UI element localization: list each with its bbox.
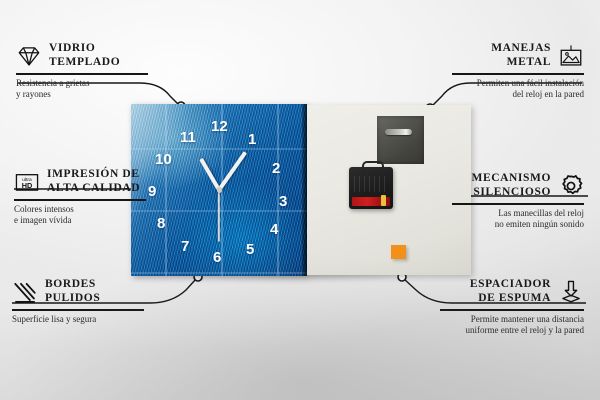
clock-front-face: 12 1 2 3 4 5 6 7 8 9 10 11: [131, 104, 307, 276]
feature-rule: [452, 203, 584, 205]
feature-espaciador-espuma: ESPACIADOR DE ESPUMA Permite mantener un…: [440, 278, 584, 337]
clock-back-panel: [307, 105, 471, 275]
clock-number: 12: [211, 119, 228, 134]
feature-header: BORDES PULIDOS: [12, 278, 144, 305]
clock-number: 11: [180, 130, 196, 145]
feature-title: MANEJAS METAL: [491, 42, 551, 69]
diagonal-lines-icon: [12, 279, 38, 305]
clock-number: 7: [181, 239, 189, 254]
feature-manejas-metal: MANEJAS METAL Permiten una fácil instala…: [452, 42, 584, 101]
feature-title: MECANISMO SILENCIOSO: [471, 172, 551, 199]
clock-center-pin: [217, 188, 222, 193]
clock-number: 1: [248, 132, 256, 147]
feature-subtitle-line1: Resistencia a grietas: [16, 78, 148, 90]
gear-icon: [558, 173, 584, 199]
picture-frame-icon: [558, 43, 584, 69]
feature-subtitle-line2: no emiten ningún sonido: [452, 219, 584, 231]
feature-subtitle-line2: del reloj en la pared: [452, 89, 584, 101]
feature-subtitle-line1: Superficie lisa y segura: [12, 314, 144, 326]
mechanism-detail: [354, 176, 388, 192]
metal-hanger: [377, 116, 424, 164]
mechanism-loop: [362, 161, 384, 172]
feature-rule: [14, 199, 146, 201]
feature-header: MANEJAS METAL: [452, 42, 584, 69]
clock-number: 3: [279, 194, 287, 209]
infographic-canvas: 12 1 2 3 4 5 6 7 8 9 10 11: [0, 0, 600, 400]
clock-number: 4: [270, 222, 278, 237]
clock-second-hand: [218, 190, 220, 242]
down-arrow-pad-icon: [558, 279, 584, 305]
feature-mecanismo-silencioso: MECANISMO SILENCIOSO Las manecillas del …: [452, 172, 584, 231]
clock-mechanism: [349, 167, 393, 209]
feature-bordes-pulidos: BORDES PULIDOS Superficie lisa y segura: [12, 278, 144, 325]
feature-rule: [12, 309, 144, 311]
product-image: 12 1 2 3 4 5 6 7 8 9 10 11: [131, 104, 471, 276]
feature-rule: [16, 73, 148, 75]
feature-subtitle-line1: Permite mantener una distancia: [440, 314, 584, 326]
clock-number: 5: [246, 242, 254, 257]
feature-title: BORDES PULIDOS: [45, 278, 100, 305]
feature-subtitle-line1: Colores intensos: [14, 204, 146, 216]
feature-title: ESPACIADOR DE ESPUMA: [470, 278, 551, 305]
clock-number: 9: [148, 184, 156, 199]
clock-number: 2: [272, 161, 280, 176]
feature-subtitle-line1: Las manecillas del reloj: [452, 208, 584, 220]
svg-text:HD: HD: [22, 181, 33, 190]
feature-rule: [452, 73, 584, 75]
feature-vidrio-templado: VIDRIO TEMPLADO Resistencia a grietas y …: [16, 42, 148, 101]
feature-rule: [440, 309, 584, 311]
ultra-hd-icon: ultra HD: [14, 169, 40, 195]
diamond-icon: [16, 43, 42, 69]
feature-header: ESPACIADOR DE ESPUMA: [440, 278, 584, 305]
clock-number: 6: [213, 250, 221, 265]
clock-number: 10: [155, 152, 172, 167]
feature-impresion-alta-calidad: ultra HD IMPRESIÓN DE ALTA CALIDAD Color…: [14, 168, 146, 227]
feature-title: IMPRESIÓN DE ALTA CALIDAD: [47, 168, 140, 195]
feature-subtitle-line2: e imagen vívida: [14, 215, 146, 227]
feature-title: VIDRIO TEMPLADO: [49, 42, 120, 69]
feature-subtitle-line2: y rayones: [16, 89, 148, 101]
feature-header: VIDRIO TEMPLADO: [16, 42, 148, 69]
feature-header: ultra HD IMPRESIÓN DE ALTA CALIDAD: [14, 168, 146, 195]
foam-spacer: [391, 245, 406, 259]
feature-header: MECANISMO SILENCIOSO: [452, 172, 584, 199]
battery-label: [352, 197, 390, 206]
feature-subtitle-line2: uniforme entre el reloj y la pared: [440, 325, 584, 337]
feature-subtitle-line1: Permiten una fácil instalación: [452, 78, 584, 90]
hanger-slot: [385, 129, 412, 135]
clock-number: 8: [157, 216, 165, 231]
